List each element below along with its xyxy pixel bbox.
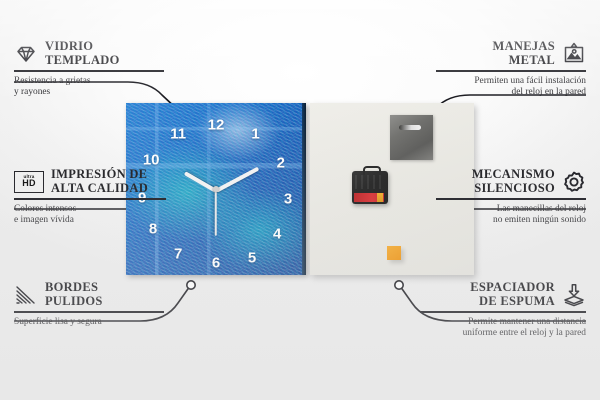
callout-desc: Permiten una fácil instalación del reloj… [436, 76, 586, 99]
foam-spacer-pad [387, 246, 401, 260]
callout-header: ESPACIADOR DE ESPUMA [420, 281, 586, 308]
clock-second-hand [215, 190, 217, 236]
callout-header: ultra HD IMPRESIÓN DE ALTA CALIDAD [14, 168, 166, 195]
infographic-canvas: 12 1 2 3 4 5 6 7 8 9 10 11 [0, 0, 600, 400]
callout-desc: Las manecillas del reloj no emiten ningú… [436, 204, 586, 227]
callout-rule [436, 198, 586, 200]
picture-hanger-icon [562, 42, 586, 66]
clock-numeral-12: 12 [208, 118, 225, 133]
callout-header: MECANISMO SILENCIOSO [436, 168, 586, 195]
diamond-icon [14, 42, 38, 66]
callout-rule [420, 311, 586, 313]
clock-numeral-11: 11 [170, 126, 186, 141]
polished-edge-icon [14, 283, 38, 307]
callout-impresion-alta-calidad: ultra HD IMPRESIÓN DE ALTA CALIDAD Color… [14, 168, 166, 226]
clock-center-cap [213, 186, 219, 192]
ultra-hd-icon: ultra HD [14, 171, 44, 193]
clock-numeral-1: 1 [251, 126, 259, 141]
movement-battery-label [354, 193, 384, 202]
callout-header: VIDRIO TEMPLADO [14, 40, 164, 67]
hanger-keyhole-slot [399, 125, 421, 130]
callout-title: MECANISMO SILENCIOSO [472, 168, 555, 195]
callout-header: MANEJAS METAL [436, 40, 586, 67]
callout-desc: Permite mantener una distancia uniforme … [420, 317, 586, 340]
clock-glass-edge [302, 103, 306, 275]
foam-spacer-icon [562, 283, 586, 307]
callout-rule [436, 70, 586, 72]
clock-numeral-7: 7 [174, 247, 182, 262]
callout-title: IMPRESIÓN DE ALTA CALIDAD [51, 168, 148, 195]
metal-hanger-plate [390, 115, 433, 160]
clock-numeral-10: 10 [143, 152, 160, 167]
callout-espaciador-espuma: ESPACIADOR DE ESPUMA Permite mantener un… [420, 281, 586, 339]
callout-rule [14, 311, 164, 313]
callout-vidrio-templado: VIDRIO TEMPLADO Resistencia a grietas y … [14, 40, 164, 98]
callout-rule [14, 198, 166, 200]
callout-bordes-pulidos: BORDES PULIDOS Superficie lisa y segura [14, 281, 164, 328]
clock-numeral-2: 2 [277, 156, 285, 171]
gear-icon [562, 170, 586, 194]
callout-header: BORDES PULIDOS [14, 281, 164, 308]
ultra-hd-icon-bottom: HD [22, 179, 35, 188]
clock-numeral-3: 3 [284, 192, 292, 207]
callout-title: MANEJAS METAL [492, 40, 555, 67]
callout-title: ESPACIADOR DE ESPUMA [470, 281, 555, 308]
callout-desc: Colores intensos e imagen vívida [14, 204, 166, 227]
callout-desc: Resistencia a grietas y rayones [14, 76, 164, 99]
clock-numeral-5: 5 [248, 250, 256, 265]
callout-manejas-metal: MANEJAS METAL Permiten una fácil instala… [436, 40, 586, 98]
clock-numeral-6: 6 [212, 255, 220, 270]
product-photo: 12 1 2 3 4 5 6 7 8 9 10 11 [126, 103, 474, 275]
callout-desc: Superficie lisa y segura [14, 317, 164, 328]
clock-numeral-4: 4 [273, 226, 281, 241]
quartz-movement-box [352, 171, 388, 204]
callout-mecanismo-silencioso: MECANISMO SILENCIOSO Las manecillas del … [436, 168, 586, 226]
callout-title: VIDRIO TEMPLADO [45, 40, 120, 67]
movement-grooves [355, 175, 385, 189]
movement-hook [363, 166, 381, 175]
callout-rule [14, 70, 164, 72]
callout-title: BORDES PULIDOS [45, 281, 103, 308]
